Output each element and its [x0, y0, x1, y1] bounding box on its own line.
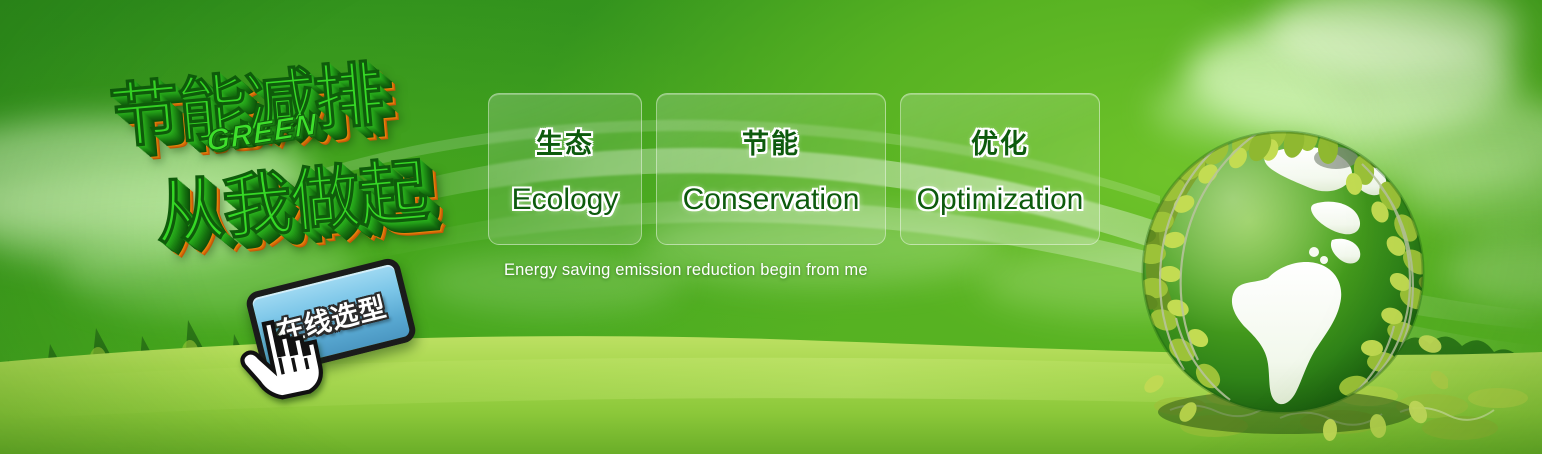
vignette-overlay [0, 0, 1542, 454]
green-energy-banner: 节能减排 GREEN 从我做起 生态 Ecology 节能 Conservati… [0, 0, 1542, 454]
